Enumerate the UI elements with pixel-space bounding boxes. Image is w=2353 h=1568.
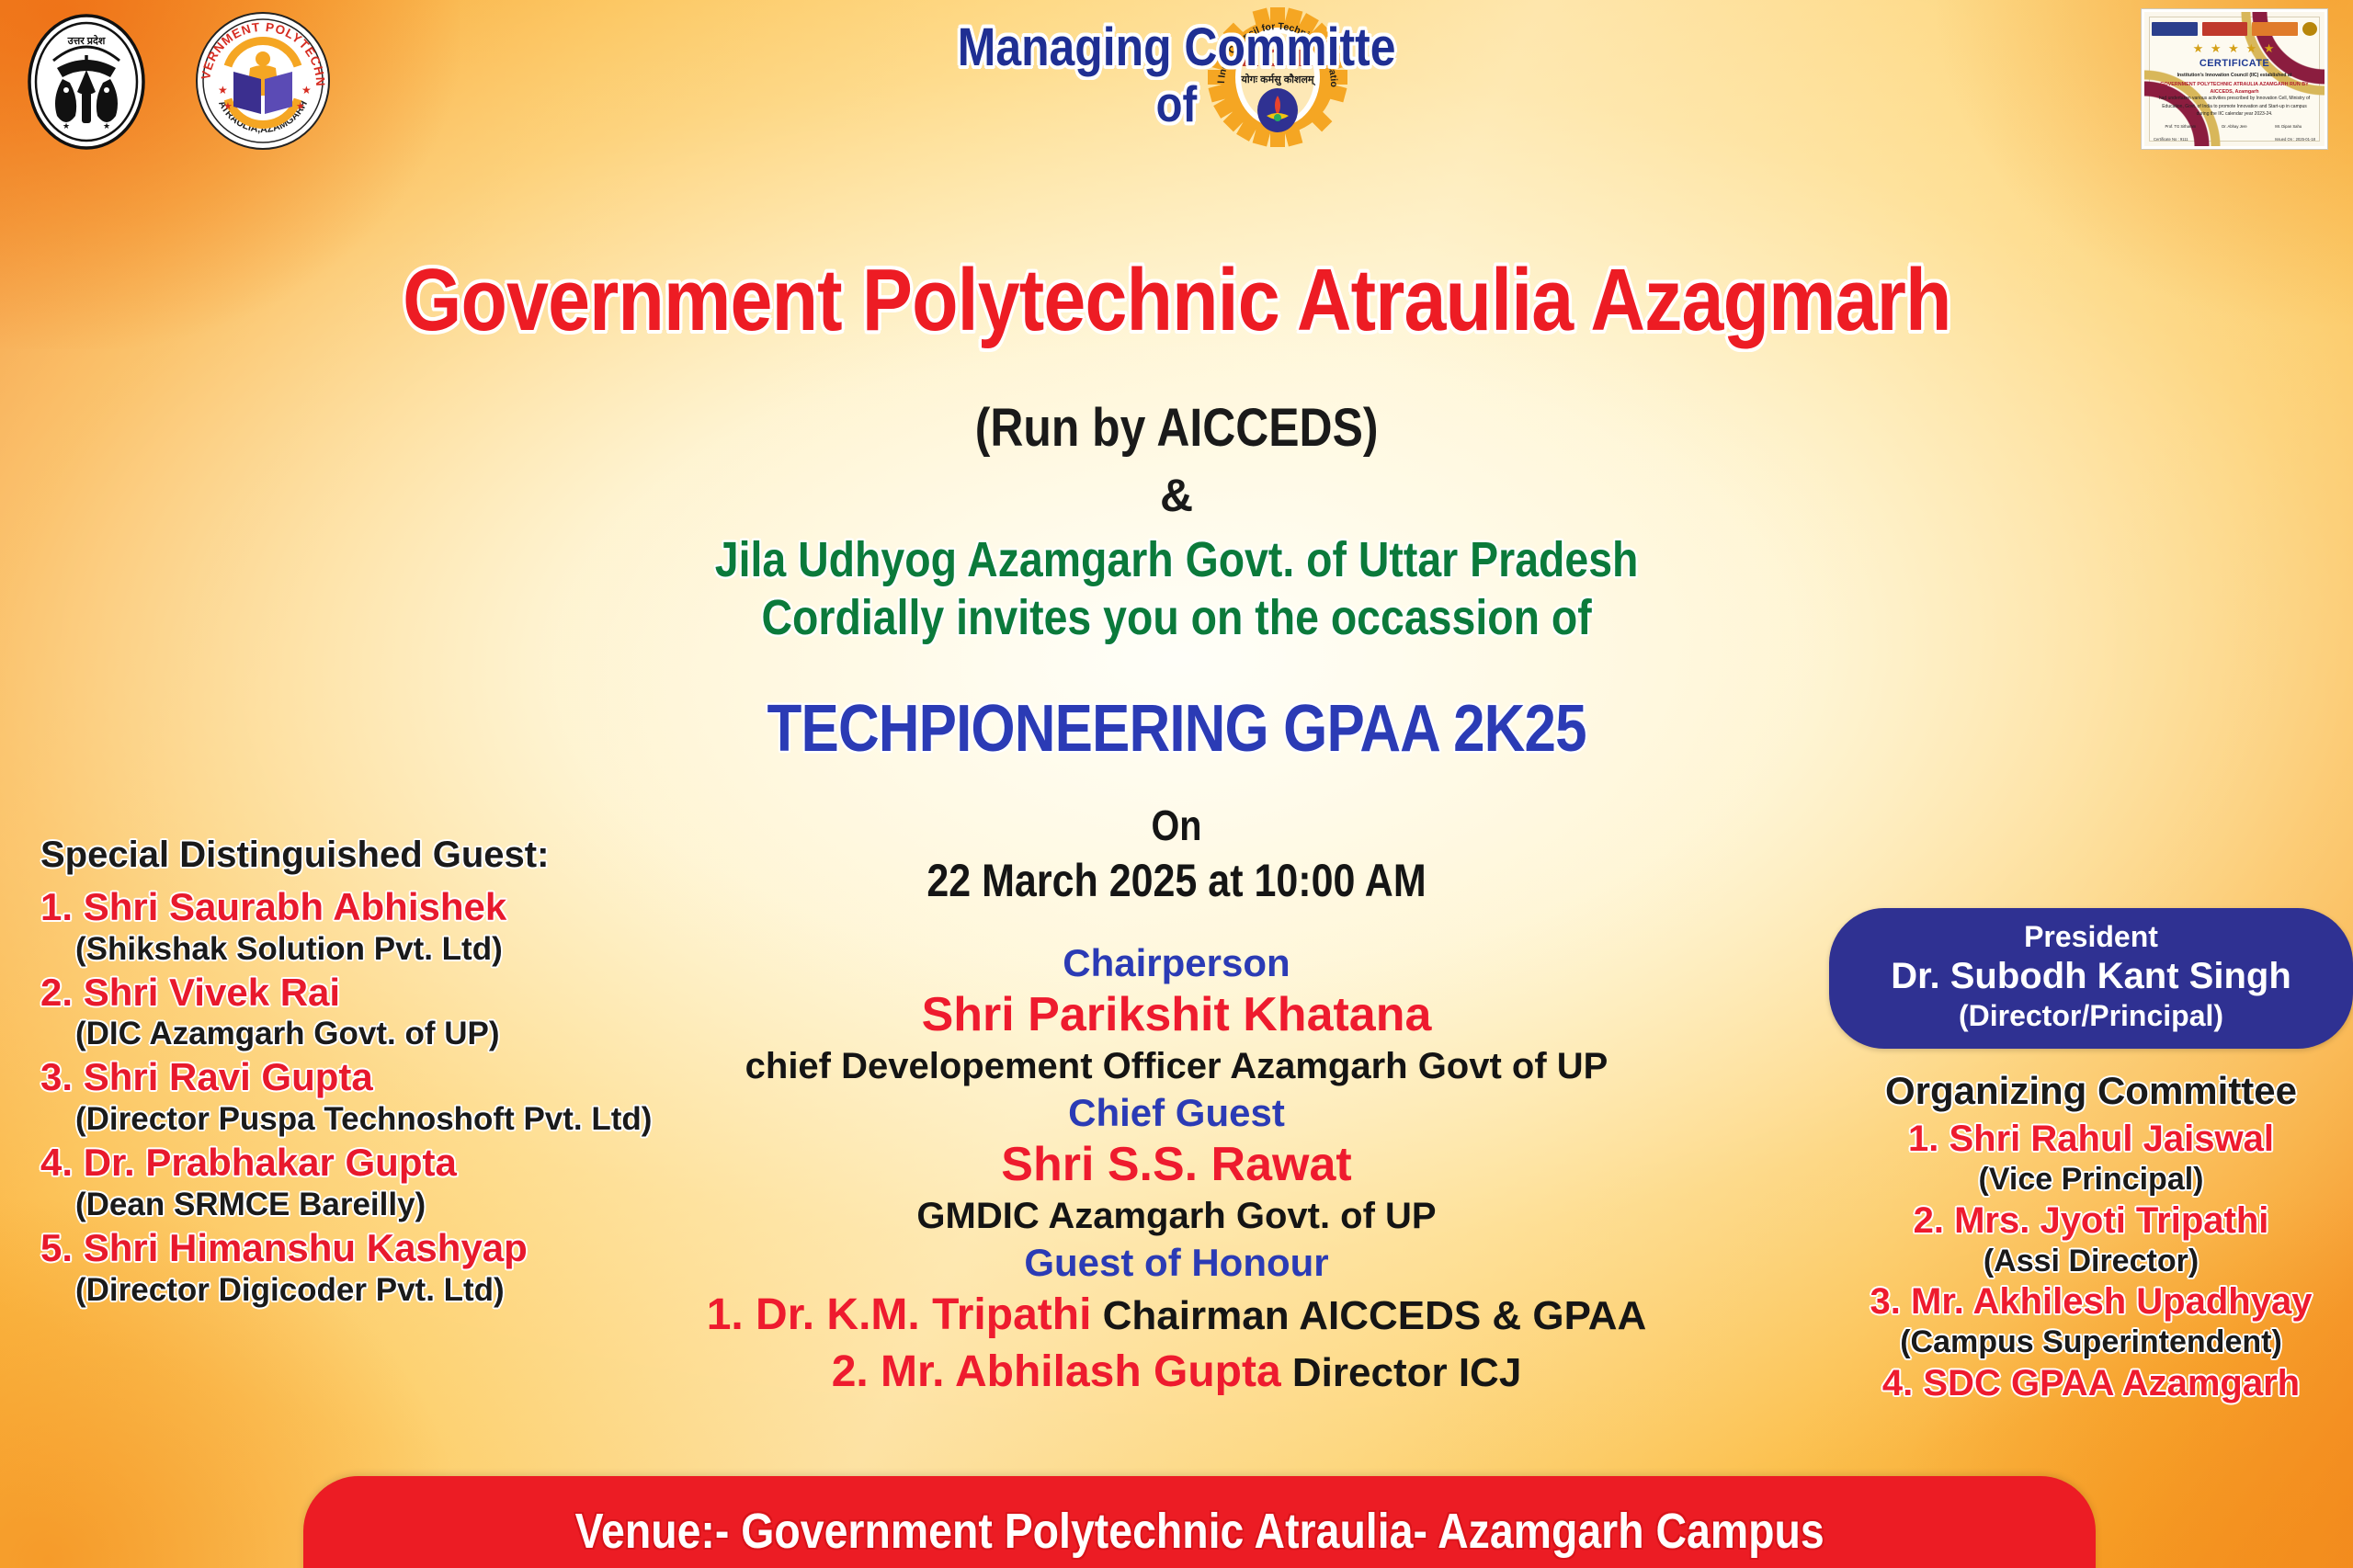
list-item: 2. Shri Vivek Rai (DIC Azamgarh Govt. of… — [40, 971, 721, 1054]
list-item: 1. Shri Saurabh Abhishek (Shikshak Solut… — [40, 885, 721, 969]
special-guest-name-5: 5. Shri Himanshu Kashyap — [40, 1226, 721, 1271]
list-item: 1. Shri Rahul Jaiswal (Vice Principal) — [1829, 1117, 2353, 1199]
organizing-member-name-2: 2. Mrs. Jyoti Tripathi — [1829, 1199, 2353, 1243]
organizing-member-sub-3: (Campus Superintendent) — [1829, 1324, 2353, 1361]
chairperson-designation: chief Developement Officer Azamgarh Govt… — [699, 1044, 1654, 1090]
managing-committee-line1: Managing Committe — [958, 20, 1396, 74]
organizing-member-name-3: 3. Mr. Akhilesh Upadhyay — [1829, 1279, 2353, 1324]
special-guest-sub-4: (Dean SRMCE Bareilly) — [40, 1186, 721, 1224]
venue-text: Venue:- Government Polytechnic Atraulia-… — [574, 1503, 1824, 1560]
special-guest-sub-2: (DIC Azamgarh Govt. of UP) — [40, 1015, 721, 1053]
list-item: 2. Mr. Abhilash Gupta Director ICJ — [699, 1344, 1654, 1401]
dignitaries-section: Chairperson Shri Parikshit Khatana chief… — [699, 939, 1654, 1401]
organizing-member-name-4: 4. SDC GPAA Azamgarh — [1829, 1361, 2353, 1405]
chief-guest-designation: GMDIC Azamgarh Govt. of UP — [699, 1194, 1654, 1240]
chairperson-label: Chairperson — [699, 939, 1654, 986]
invitation-poster: ★ ★ उत्तर प्रदेश GOVERNMENT POLYTECHNIC … — [0, 0, 2353, 1568]
run-by-text: (Run by AICCEDS) — [975, 397, 1379, 459]
organizing-member-sub-2: (Assi Director) — [1829, 1243, 2353, 1280]
guest-of-honour-designation-1: Chairman AICCEDS & GPAA — [1103, 1293, 1647, 1338]
president-name: Dr. Subodh Kant Singh — [1846, 954, 2336, 998]
special-guest-name-4: 4. Dr. Prabhakar Gupta — [40, 1141, 721, 1186]
president-badge: President Dr. Subodh Kant Singh (Directo… — [1829, 908, 2353, 1049]
organizing-committee-title: Organizing Committee — [1829, 1069, 2353, 1113]
list-item: 3. Shri Ravi Gupta (Director Puspa Techn… — [40, 1055, 721, 1139]
special-guest-name-3: 3. Shri Ravi Gupta — [40, 1055, 721, 1100]
chairperson-name: Shri Parikshit Khatana — [699, 986, 1654, 1043]
list-item: 3. Mr. Akhilesh Upadhyay (Campus Superin… — [1829, 1279, 2353, 1361]
list-item: 1. Dr. K.M. Tripathi Chairman AICCEDS & … — [699, 1287, 1654, 1344]
institution-name: Government Polytechnic Atraulia Azagmarh — [403, 250, 1950, 351]
guest-of-honour-label: Guest of Honour — [699, 1239, 1654, 1286]
certificate-number: Certificate No : 9111 — [2154, 137, 2188, 142]
chief-guest-name: Shri S.S. Rawat — [699, 1136, 1654, 1193]
president-label: President — [1846, 919, 2336, 954]
guest-of-honour-designation-2: Director ICJ — [1292, 1350, 1521, 1395]
president-designation: (Director/Principal) — [1846, 998, 2336, 1033]
special-guest-name-1: 1. Shri Saurabh Abhishek — [40, 885, 721, 930]
special-guest-sub-3: (Director Puspa Technoshoft Pvt. Ltd) — [40, 1100, 721, 1139]
organizing-member-name-1: 1. Shri Rahul Jaiswal — [1829, 1117, 2353, 1161]
event-title-text: TECHPIONEERING GPAA 2K25 — [767, 691, 1586, 767]
page-title: Government Polytechnic Atraulia Azagmarh — [0, 250, 2353, 351]
chief-guest-label: Chief Guest — [699, 1089, 1654, 1136]
partner-line-2: Cordially invites you on the occassion o… — [761, 589, 1591, 647]
organizing-section: President Dr. Subodh Kant Singh (Directo… — [1829, 908, 2353, 1405]
list-item: 5. Shri Himanshu Kashyap (Director Digic… — [40, 1226, 721, 1310]
managing-committee-line2: of — [165, 78, 2188, 130]
special-guest-sub-1: (Shikshak Solution Pvt. Ltd) — [40, 930, 721, 969]
list-item: 4. Dr. Prabhakar Gupta (Dean SRMCE Barei… — [40, 1141, 721, 1224]
partner-organisation-block: Jila Udhyog Azamgarh Govt. of Uttar Prad… — [0, 531, 2353, 646]
guest-of-honour-name-1: 1. Dr. K.M. Tripathi — [707, 1290, 1092, 1339]
organizing-member-sub-1: (Vice Principal) — [1829, 1161, 2353, 1199]
partner-line-1: Jila Udhyog Azamgarh Govt. of Uttar Prad… — [715, 531, 1639, 589]
special-guests-title: Special Distinguished Guest: — [40, 835, 721, 876]
on-label: On — [1152, 800, 1202, 852]
special-guest-sub-5: (Director Digicoder Pvt. Ltd) — [40, 1271, 721, 1310]
event-title: TECHPIONEERING GPAA 2K25 — [0, 691, 2353, 767]
list-item: 2. Mrs. Jyoti Tripathi (Assi Director) — [1829, 1199, 2353, 1280]
ampersand-separator: & — [0, 469, 2353, 522]
certificate-issued-on: Issued On : 2025-01-18 — [2275, 137, 2315, 142]
venue-banner: Venue:- Government Polytechnic Atraulia-… — [303, 1476, 2096, 1568]
guest-of-honour-name-2: 2. Mr. Abhilash Gupta — [832, 1347, 1281, 1396]
run-by-line: (Run by AICCEDS) — [0, 397, 2353, 459]
managing-committee-heading: Managing Committe of — [0, 20, 2353, 130]
special-guest-name-2: 2. Shri Vivek Rai — [40, 971, 721, 1016]
list-item: 4. SDC GPAA Azamgarh — [1829, 1361, 2353, 1405]
ampersand-text: & — [1160, 470, 1193, 521]
special-guests-section: Special Distinguished Guest: 1. Shri Sau… — [40, 835, 721, 1312]
